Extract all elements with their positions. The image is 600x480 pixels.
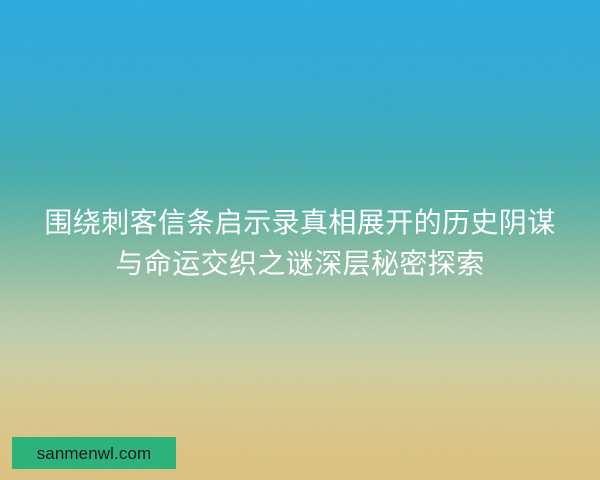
- title-line-2: 与命运交织之谜深层秘密探索: [14, 243, 586, 284]
- page-title: 围绕刺客信条启示录真相展开的历史阴谋 与命运交织之谜深层秘密探索: [0, 202, 600, 284]
- watermark-label: sanmenwl.com: [37, 445, 152, 462]
- title-line-1: 围绕刺客信条启示录真相展开的历史阴谋: [14, 202, 586, 243]
- watermark-badge[interactable]: sanmenwl.com: [12, 437, 176, 469]
- title-card: 围绕刺客信条启示录真相展开的历史阴谋 与命运交织之谜深层秘密探索 sanmenw…: [0, 0, 600, 480]
